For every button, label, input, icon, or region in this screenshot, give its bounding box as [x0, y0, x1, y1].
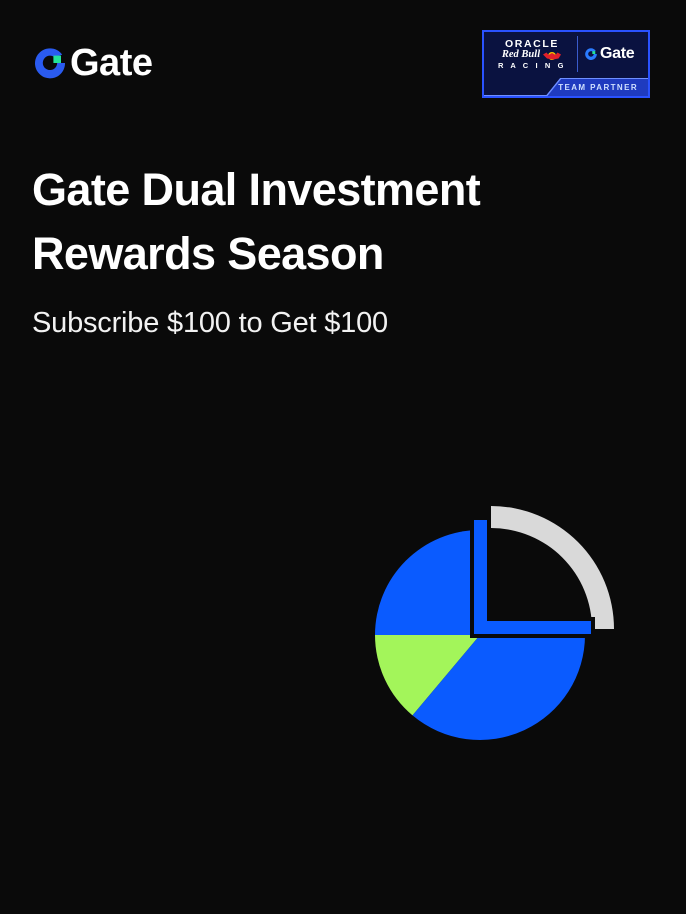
gate-wordmark: Gate [70, 44, 152, 82]
header: Gate ORACLE Red Bull R A C [0, 0, 686, 120]
page-subtitle: Subscribe $100 to Get $100 [32, 306, 632, 341]
gate-logo-mark-icon [584, 47, 598, 61]
pie-slice-segment-d [375, 530, 480, 635]
red-bull-bulls-icon [542, 50, 562, 61]
badge-gate-lockup: Gate [584, 46, 634, 62]
oracle-label: ORACLE [505, 39, 559, 50]
gate-logo-mark-icon [32, 45, 68, 81]
badge-gate-label: Gate [600, 46, 634, 62]
promo-banner: Gate ORACLE Red Bull R A C [0, 0, 686, 914]
pie-chart-svg [355, 482, 635, 762]
oracle-red-bull-racing-lockup: ORACLE Red Bull R A C I N G [484, 32, 576, 76]
promo-copy: Gate Dual Investment Rewards Season Subs… [32, 158, 632, 341]
pie-chart-illustration [355, 482, 635, 762]
badge-main-row: ORACLE Red Bull R A C I N G [484, 32, 648, 76]
badge-divider [577, 36, 578, 72]
team-partner-label: TEAM PARTNER [558, 84, 638, 92]
red-bull-row: Red Bull [502, 50, 562, 61]
red-bull-label: Red Bull [502, 50, 540, 61]
racing-label: R A C I N G [498, 62, 566, 70]
team-partner-badge[interactable]: ORACLE Red Bull R A C I N G [482, 30, 650, 98]
page-title: Gate Dual Investment Rewards Season [32, 158, 552, 286]
gate-brand-logo[interactable]: Gate [32, 43, 152, 83]
